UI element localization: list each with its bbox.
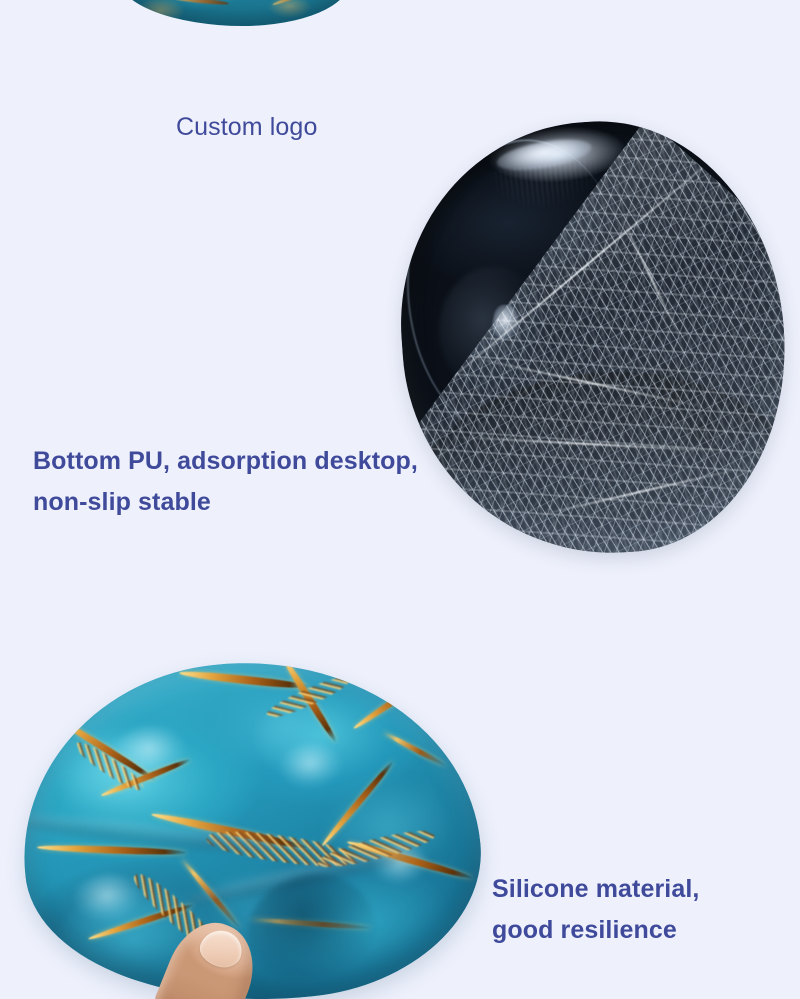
caption-custom-logo: Custom logo	[176, 107, 317, 148]
knuckle-shading	[155, 967, 242, 999]
product-image-teal-pad-cropped-top	[118, 0, 350, 26]
black-pad-body	[387, 109, 798, 567]
thumbnail	[196, 926, 246, 972]
gold-vein	[353, 677, 429, 731]
gold-vein	[272, 0, 321, 6]
caption-bottom-pu: Bottom PU, adsorption desktop, non-slip …	[33, 441, 418, 524]
teal-pad-fragment-body	[118, 0, 350, 26]
product-image-black-pu-pad	[402, 122, 784, 554]
caption-silicone-material: Silicone material, good resilience	[492, 869, 699, 952]
product-feature-page: Custom logo Bottom PU, adsorption deskto	[0, 0, 800, 999]
gold-vein	[169, 0, 230, 6]
